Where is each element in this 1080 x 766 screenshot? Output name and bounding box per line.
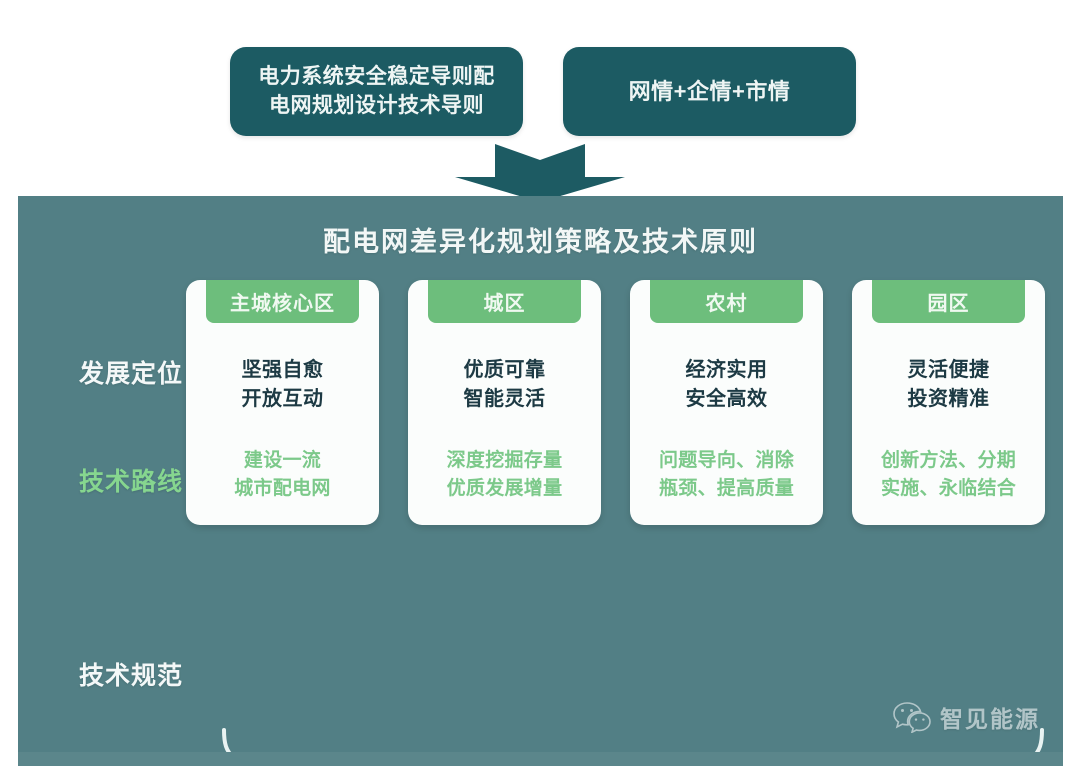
- area-card-positioning: 优质可靠智能灵活: [408, 356, 601, 414]
- area-card-positioning: 坚强自愈开放互动: [186, 356, 379, 414]
- area-card-positioning: 经济实用安全高效: [630, 356, 823, 414]
- area-card-route: 深度挖掘存量优质发展增量: [408, 447, 601, 502]
- area-card-route: 问题导向、消除瓶颈、提高质量: [630, 447, 823, 502]
- area-card[interactable]: 园区 灵活便捷投资精准 创新方法、分期实施、永临结合: [852, 280, 1045, 525]
- input-box-standards: 电力系统安全稳定导则配电网规划设计技术导则: [230, 47, 523, 136]
- diagram-canvas: 电力系统安全稳定导则配电网规划设计技术导则 网情+企情+市情 配电网差异化规划策…: [0, 0, 1080, 766]
- row-label-positioning: 发展定位: [56, 354, 206, 390]
- area-card-route: 创新方法、分期实施、永临结合: [852, 447, 1045, 502]
- area-card-tab: 主城核心区: [206, 280, 359, 323]
- area-card-route: 建设一流城市配电网: [186, 447, 379, 502]
- area-card-group: 主城核心区 坚强自愈开放互动 建设一流城市配电网 城区 优质可靠智能灵活 深度挖…: [186, 280, 1046, 530]
- input-box-standards-label: 电力系统安全稳定导则配电网规划设计技术导则: [258, 63, 495, 120]
- area-card-positioning: 灵活便捷投资精准: [852, 356, 1045, 414]
- area-card-tab: 园区: [872, 280, 1025, 323]
- wechat-icon: [893, 701, 933, 733]
- input-box-context: 网情+企情+市情: [563, 47, 856, 136]
- page-title: 配电网差异化规划策略及技术原则: [18, 220, 1063, 259]
- area-card-tab: 农村: [650, 280, 803, 323]
- down-arrow-icon: [455, 144, 625, 202]
- row-label-route: 技术路线: [56, 462, 206, 498]
- area-card[interactable]: 城区 优质可靠智能灵活 深度挖掘存量优质发展增量: [408, 280, 601, 525]
- watermark-label: 智见能源: [940, 700, 1040, 734]
- area-card-tab: 城区: [428, 280, 581, 323]
- input-box-context-label: 网情+企情+市情: [629, 77, 791, 107]
- area-card[interactable]: 主城核心区 坚强自愈开放互动 建设一流城市配电网: [186, 280, 379, 525]
- row-label-standard: 技术规范: [56, 656, 206, 692]
- bottom-strip: [18, 752, 1063, 766]
- watermark: 智见能源: [893, 700, 1040, 734]
- main-panel: 配电网差异化规划策略及技术原则 发展定位 技术路线 技术规范 主城核心区 坚强自…: [18, 196, 1063, 752]
- area-card[interactable]: 农村 经济实用安全高效 问题导向、消除瓶颈、提高质量: [630, 280, 823, 525]
